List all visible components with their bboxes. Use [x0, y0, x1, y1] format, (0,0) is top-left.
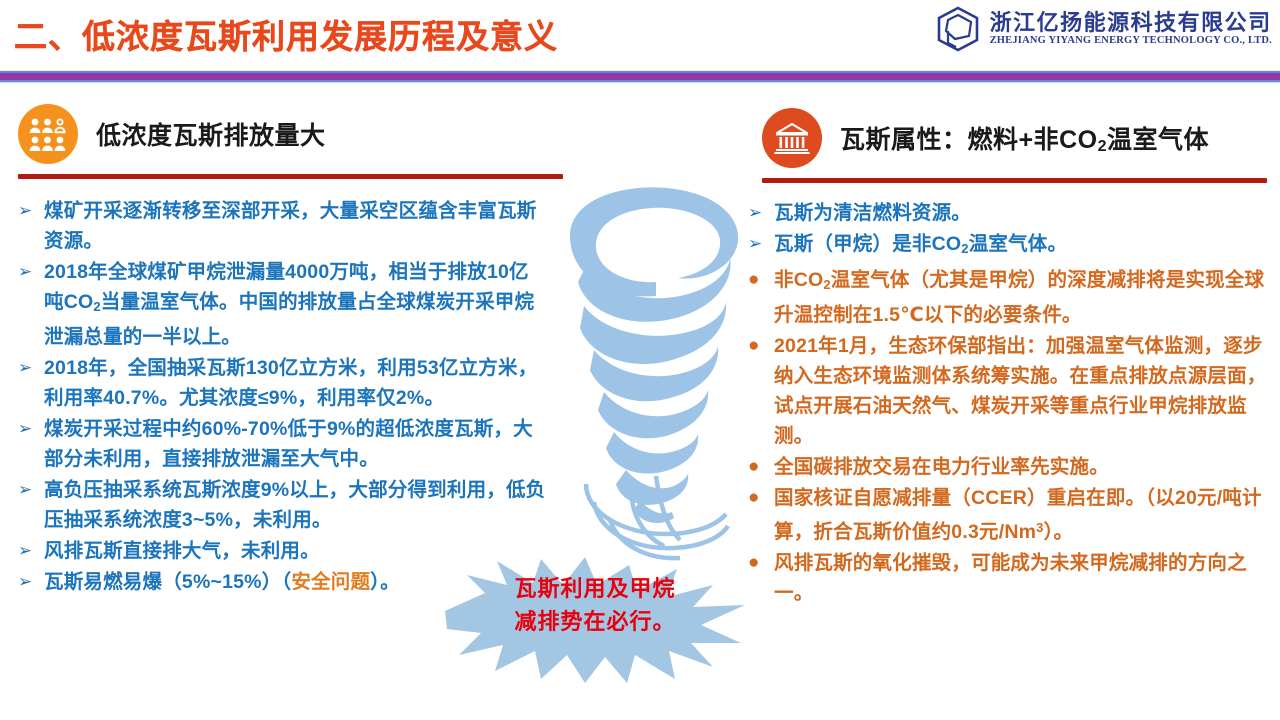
callout-line-1: 瓦斯利用及甲烷 — [445, 572, 745, 605]
hexagon-logo-icon — [936, 6, 980, 52]
list-item: ➢ 煤炭开采过程中约60%-70%低于9%的超低浓度瓦斯，大部分未利用，直接排放… — [18, 414, 546, 474]
list-item: ● 风排瓦斯的氧化摧毁，可能成为未来甲烷减排的方向之一。 — [748, 548, 1268, 608]
left-panel: 低浓度瓦斯排放量大 — [18, 104, 563, 179]
list-item: ➢ 煤矿开采逐渐转移至深部开采，大量采空区蕴含丰富瓦斯资源。 — [18, 196, 546, 256]
tornado-icon — [528, 178, 768, 578]
title-divider-band — [0, 70, 1280, 83]
right-panel-rule — [762, 178, 1267, 183]
list-item-text: 全国碳排放交易在电力行业率先实施。 — [774, 452, 1109, 482]
arrow-bullet-icon: ➢ — [18, 475, 44, 505]
list-item: ➢ 2018年全球煤矿甲烷泄漏量4000万吨，相当于排放10亿吨CO2当量温室气… — [18, 257, 546, 352]
list-item-text: 煤矿开采逐渐转移至深部开采，大量采空区蕴含丰富瓦斯资源。 — [44, 196, 546, 256]
arrow-bullet-icon: ➢ — [18, 196, 44, 226]
arrow-bullet-icon: ➢ — [18, 567, 44, 597]
people-group-icon — [18, 104, 78, 164]
right-panel-title-prefix: 瓦斯属性：燃料+非CO — [840, 126, 1098, 154]
list-item-text: 非CO2温室气体（尤其是甲烷）的深度减排将是实现全球升温控制在1.5℃以下的必要… — [774, 265, 1268, 330]
list-item: ● 非CO2温室气体（尤其是甲烷）的深度减排将是实现全球升温控制在1.5℃以下的… — [748, 265, 1268, 330]
list-item: ➢ 瓦斯（甲烷）是非CO2温室气体。 — [748, 229, 1268, 264]
list-item-text: 瓦斯（甲烷）是非CO2温室气体。 — [774, 229, 1067, 264]
company-logo: 浙江亿扬能源科技有限公司 ZHEJIANG YIYANG ENERGY TECH… — [936, 6, 1272, 52]
slide-header: 二、低浓度瓦斯利用发展历程及意义 浙江亿扬能源科技有限公司 ZHEJIANG Y… — [0, 0, 1280, 68]
list-item-text: 瓦斯为清洁燃料资源。 — [774, 198, 971, 228]
right-bullet-list: ➢ 瓦斯为清洁燃料资源。 ➢ 瓦斯（甲烷）是非CO2温室气体。 ● 非CO2温室… — [748, 198, 1268, 609]
page-title: 二、低浓度瓦斯利用发展历程及意义 — [14, 10, 558, 58]
left-panel-header: 低浓度瓦斯排放量大 — [18, 104, 563, 164]
left-panel-rule — [18, 174, 563, 179]
right-panel-title-sub: 2 — [1098, 138, 1107, 155]
arrow-bullet-icon: ➢ — [18, 414, 44, 444]
arrow-bullet-icon: ➢ — [18, 536, 44, 566]
list-item: ➢ 高负压抽采系统瓦斯浓度9%以上，大部分得到利用，低负压抽采系统浓度3~5%，… — [18, 475, 546, 535]
list-item-text: 2018年，全国抽采瓦斯130亿立方米，利用53亿立方米，利用率40.7%。尤其… — [44, 353, 546, 413]
arrow-bullet-icon: ➢ — [18, 257, 44, 287]
right-panel-title: 瓦斯属性：燃料+非CO2温室气体 — [840, 120, 1209, 156]
left-panel-title: 低浓度瓦斯排放量大 — [96, 116, 326, 152]
callout-line-2: 减排势在必行。 — [445, 605, 745, 638]
logo-company-cn: 浙江亿扬能源科技有限公司 — [990, 11, 1272, 35]
list-item-text: 高负压抽采系统瓦斯浓度9%以上，大部分得到利用，低负压抽采系统浓度3~5%，未利… — [44, 475, 546, 535]
highlight-text: 安全问题 — [291, 571, 370, 593]
list-item: ● 2021年1月，生态环保部指出：加强温室气体监测，逐步纳入生态环境监测体系统… — [748, 331, 1268, 451]
list-item: ➢ 2018年，全国抽采瓦斯130亿立方米，利用53亿立方米，利用率40.7%。… — [18, 353, 546, 413]
list-item-text: 煤炭开采过程中约60%-70%低于9%的超低浓度瓦斯，大部分未利用，直接排放泄漏… — [44, 414, 546, 474]
list-item-text: 国家核证自愿减排量（CCER）重启在即。（以20元/吨计算，折合瓦斯价值约0.3… — [774, 483, 1268, 547]
logo-company-en: ZHEJIANG YIYANG ENERGY TECHNOLOGY CO., L… — [990, 35, 1272, 48]
slide-root: 二、低浓度瓦斯利用发展历程及意义 浙江亿扬能源科技有限公司 ZHEJIANG Y… — [0, 0, 1280, 720]
arrow-bullet-icon: ➢ — [18, 353, 44, 383]
callout-text: 瓦斯利用及甲烷 减排势在必行。 — [445, 572, 745, 638]
right-panel-header: 瓦斯属性：燃料+非CO2温室气体 — [762, 108, 1267, 168]
list-item-text: 2021年1月，生态环保部指出：加强温室气体监测，逐步纳入生态环境监测体系统筹实… — [774, 331, 1268, 451]
right-panel: 瓦斯属性：燃料+非CO2温室气体 — [762, 108, 1267, 183]
list-item: ● 全国碳排放交易在电力行业率先实施。 — [748, 452, 1268, 482]
bank-building-icon — [762, 108, 822, 168]
list-item-text: 瓦斯易燃易爆（5%~15%）（安全问题）。 — [44, 567, 400, 597]
list-item-text: 风排瓦斯的氧化摧毁，可能成为未来甲烷减排的方向之一。 — [774, 548, 1268, 608]
list-item-text: 风排瓦斯直接排大气，未利用。 — [44, 536, 320, 566]
right-panel-title-suffix: 温室气体 — [1107, 126, 1209, 154]
list-item: ➢ 瓦斯为清洁燃料资源。 — [748, 198, 1268, 228]
list-item-text: 2018年全球煤矿甲烷泄漏量4000万吨，相当于排放10亿吨CO2当量温室气体。… — [44, 257, 546, 352]
list-item: ● 国家核证自愿减排量（CCER）重启在即。（以20元/吨计算，折合瓦斯价值约0… — [748, 483, 1268, 547]
left-bullet-list: ➢ 煤矿开采逐渐转移至深部开采，大量采空区蕴含丰富瓦斯资源。 ➢ 2018年全球… — [18, 196, 546, 598]
